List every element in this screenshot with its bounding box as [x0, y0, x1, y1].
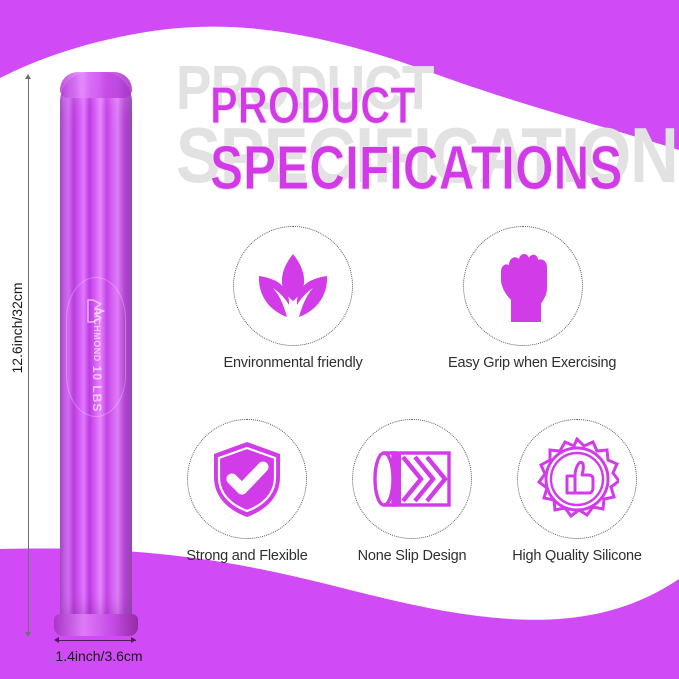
height-arrow-bottom	[25, 632, 31, 637]
title-line2: SPECIFICATIONS	[210, 138, 622, 200]
feature-label: High Quality Silicone	[502, 548, 652, 564]
roller-base	[54, 614, 138, 636]
diameter-arrow-right	[131, 637, 136, 643]
diameter-arrow-left	[54, 637, 59, 643]
feature-icon-circle	[187, 419, 307, 539]
feature-icon-circle	[352, 419, 472, 539]
page-title: PRODUCT SPECIFICATIONS PRODUCT SPECIFICA…	[176, 58, 676, 208]
feature-strong-flexible: Strong and Flexible	[172, 419, 322, 564]
diameter-dimension-label: 1.4inch/3.6cm	[24, 648, 174, 664]
height-dimension-label: 12.6inch/32cm	[9, 273, 25, 383]
diameter-dimension-line	[56, 640, 136, 641]
feature-icon-circle	[463, 226, 583, 346]
title-line1: PRODUCT	[210, 80, 416, 132]
product-image-foam-roller: RICHMOND 10 LBS	[60, 72, 132, 640]
feature-easy-grip: Easy Grip when Exercising	[448, 226, 598, 371]
feature-icon-circle	[233, 226, 353, 346]
roller-top-cap	[60, 72, 132, 98]
leaf-plant-icon	[254, 250, 332, 322]
feature-label: None Slip Design	[337, 548, 487, 564]
feature-none-slip-design: None Slip Design	[337, 419, 487, 564]
badge-thumbsup-icon	[535, 437, 619, 521]
feature-environmental-friendly: Environmental friendly	[218, 226, 368, 371]
feature-label: Environmental friendly	[218, 355, 368, 371]
shield-check-icon	[209, 439, 285, 519]
height-arrow-top	[25, 74, 31, 79]
rolled-mat-icon	[371, 447, 453, 511]
product-specifications-infographic: PRODUCT SPECIFICATIONS PRODUCT SPECIFICA…	[0, 0, 679, 679]
weight-text: 10 LBS	[90, 344, 104, 434]
height-dimension-line	[28, 76, 29, 636]
feature-high-quality-silicone: High Quality Silicone	[502, 419, 652, 564]
fist-grip-icon	[491, 248, 555, 324]
feature-label: Easy Grip when Exercising	[448, 355, 598, 371]
feature-label: Strong and Flexible	[172, 548, 322, 564]
feature-icon-circle	[517, 419, 637, 539]
